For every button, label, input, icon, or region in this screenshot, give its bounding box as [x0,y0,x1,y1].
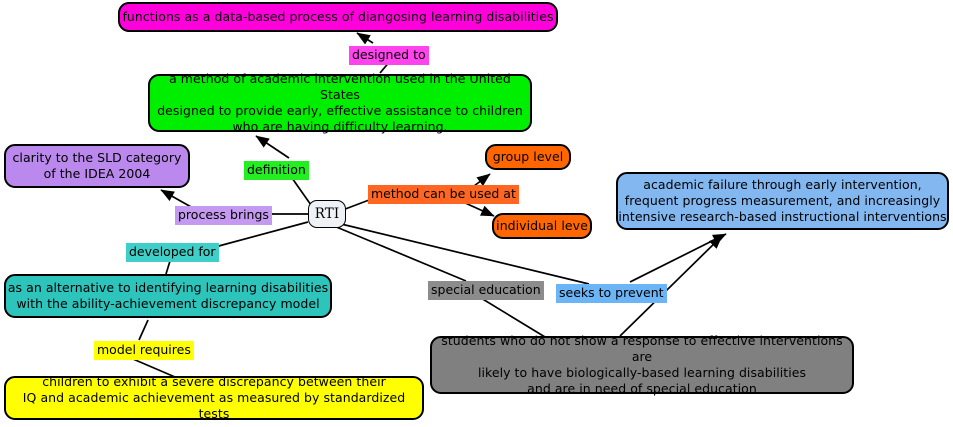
node-method-text: a method of academic intervention used i… [150,71,530,135]
node-functions[interactable]: functions as a data-based process of dia… [118,2,558,32]
concept-map-canvas: functions as a data-based process of dia… [0,0,953,427]
node-students-response-text: students who do not show a response to e… [432,333,852,397]
node-individual-level-text: individual leve [496,218,588,234]
node-clarity[interactable]: clarity to the SLD category of the IDEA … [4,144,190,188]
edge-label-seeks-to-prevent[interactable]: seeks to prevent [556,284,667,303]
edge-label-special-education[interactable]: special education [428,281,544,300]
edge-label-model-requires-text: model requires [97,342,191,357]
edge-label-seeks-to-prevent-text: seeks to prevent [559,285,664,300]
node-students-response[interactable]: students who do not show a response to e… [430,336,854,394]
node-children-iq-text: children to exhibit a severe discrepancy… [6,374,422,422]
node-alternative[interactable]: as an alternative to identifying learnin… [4,274,332,318]
edge-label-special-education-text: special education [431,282,541,297]
node-clarity-text: clarity to the SLD category of the IDEA … [13,150,182,182]
node-children-iq[interactable]: children to exhibit a severe discrepancy… [4,376,424,420]
edge-label-definition-text: definition [247,162,306,177]
edge-label-method-used-at[interactable]: method can be used at [368,185,519,204]
edge-label-developed-for-text: developed for [129,244,216,259]
edge-label-definition[interactable]: definition [244,161,309,180]
node-method[interactable]: a method of academic intervention used i… [148,74,532,132]
edge-methodused-individuallevel [463,202,494,216]
edge-label-process-brings[interactable]: process brings [175,206,272,225]
edge-developedfor-alternative [166,261,170,274]
node-group-level[interactable]: group level [485,144,571,170]
node-alternative-text: as an alternative to identifying learnin… [8,280,328,312]
node-academic-failure[interactable]: academic failure through early intervent… [616,172,949,230]
edge-label-designed-to[interactable]: designed to [349,46,429,65]
node-functions-text: functions as a data-based process of dia… [122,9,553,25]
edge-label-method-used-at-text: method can be used at [371,186,516,201]
edge-seekstoprevent-academic [630,234,726,282]
edge-label-developed-for[interactable]: developed for [126,243,219,262]
node-group-level-text: group level [493,149,564,165]
edge-designedto-functions [357,33,373,43]
edge-rti-developedfor [215,222,308,247]
node-individual-level[interactable]: individual leve [492,213,592,239]
edge-specialeducation-students [481,298,545,337]
edge-label-model-requires[interactable]: model requires [94,341,194,360]
edge-definition-method [256,136,289,158]
node-rti-center[interactable]: RTI [308,200,346,228]
edge-rti-specialeducation [334,226,466,281]
edge-label-designed-to-text: designed to [352,47,426,62]
edge-rti-definition [292,178,311,205]
edge-alternative-modelrequires [139,320,148,340]
edge-label-process-brings-text: process brings [178,207,269,222]
node-rti-label: RTI [315,206,339,222]
node-academic-failure-text: academic failure through early intervent… [618,177,946,225]
